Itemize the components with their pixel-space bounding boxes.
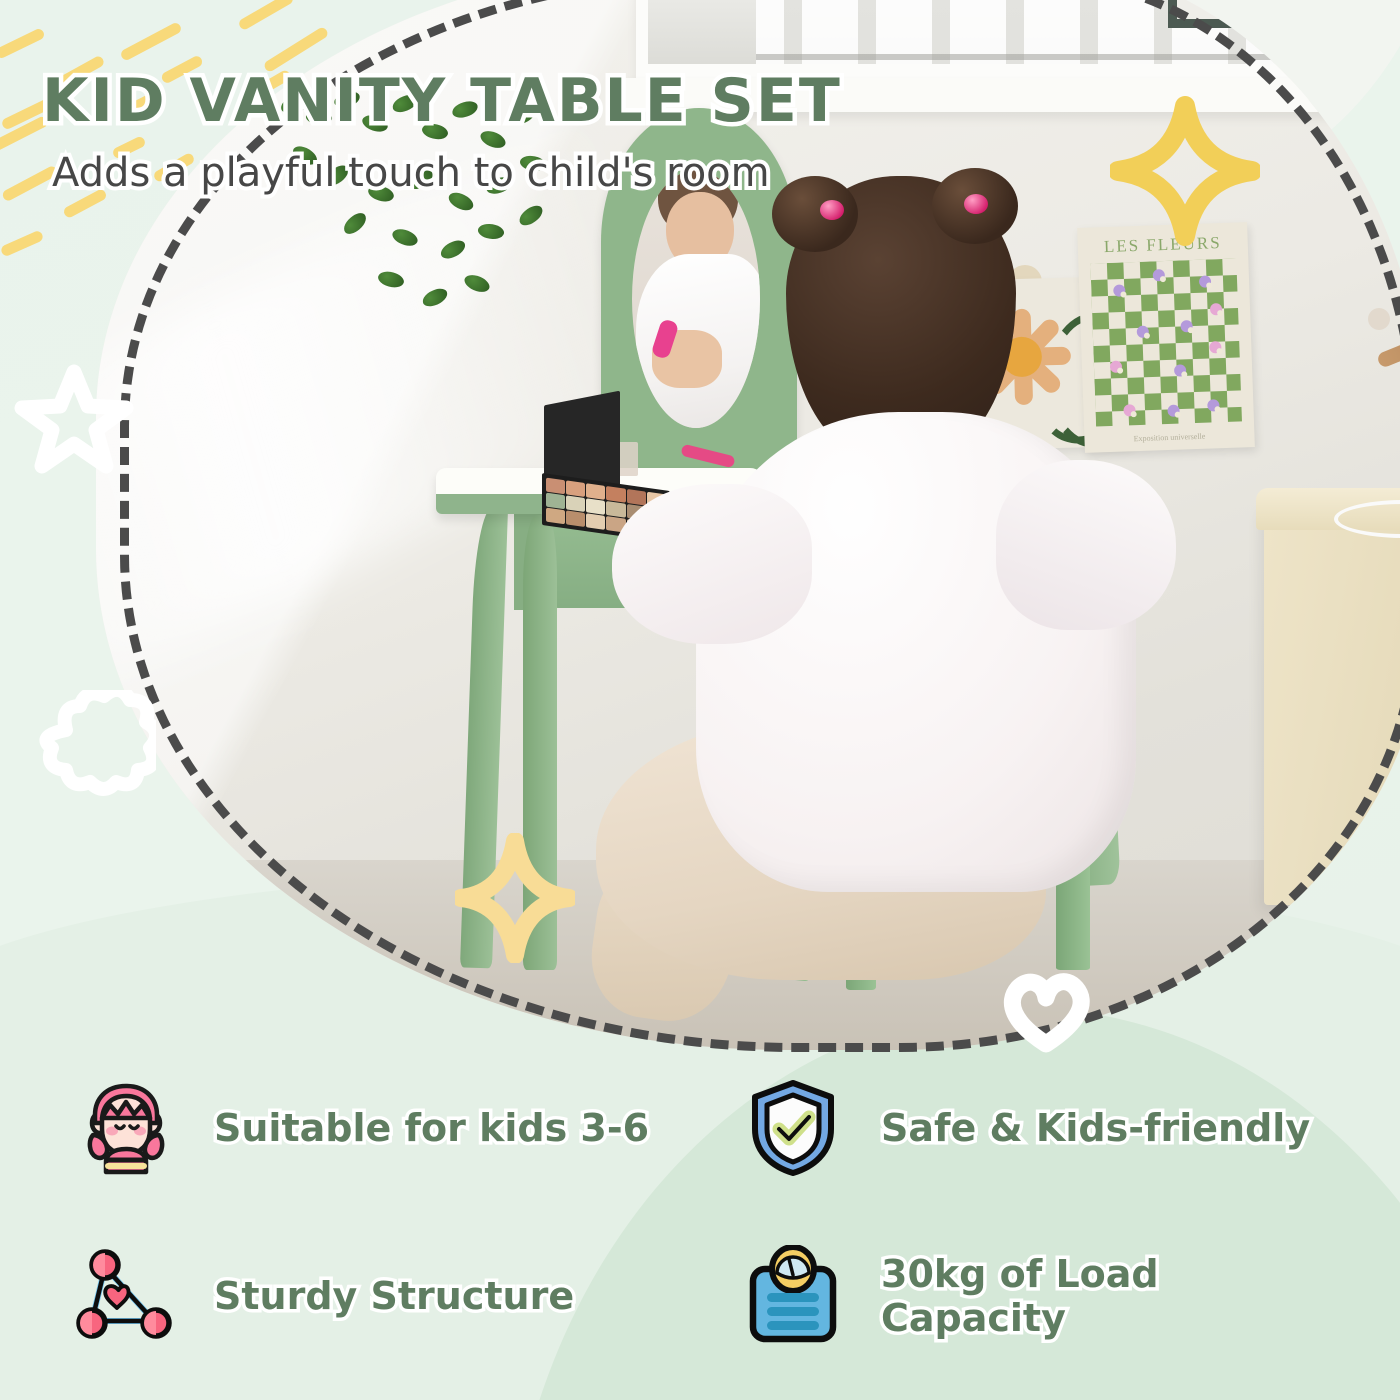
page-subtitle: Adds a playful touch to child's room xyxy=(52,150,842,196)
wall-hook xyxy=(1368,308,1390,330)
makeup-pot xyxy=(618,442,638,476)
feature-label: Suitable for kids 3-6 xyxy=(214,1107,649,1151)
sparkle-icon xyxy=(455,833,575,963)
triangle-heart-icon xyxy=(76,1245,180,1349)
child-sleeve-right xyxy=(996,460,1176,630)
feature-item-suitable-for-kids: Suitable for kids 3-6 xyxy=(76,1045,733,1213)
feature-label: 30kg of Load Capacity xyxy=(881,1253,1159,1340)
les-fleurs-poster: LES FLEURS Exposition universelle xyxy=(1077,222,1255,453)
feature-item-load-capacity: 30kg of Load Capacity xyxy=(743,1213,1400,1381)
feature-label: Sturdy Structure xyxy=(214,1275,574,1319)
hair-scrunchie xyxy=(820,200,844,220)
feature-label: Safe & Kids-friendly xyxy=(881,1107,1310,1151)
page-title: KID VANITY TABLE SET xyxy=(42,66,842,136)
star-outline-icon xyxy=(14,358,134,478)
sparkle-icon xyxy=(1110,96,1260,246)
dresser-leg xyxy=(1304,898,1338,940)
girl-avatar-icon xyxy=(76,1077,180,1181)
child-sleeve-left xyxy=(612,484,812,644)
feature-list: Suitable for kids 3-6 Safe & Kids-friend… xyxy=(0,1045,1400,1381)
wall-picture-frame xyxy=(1168,0,1386,28)
heart-outline-icon xyxy=(996,960,1096,1058)
hair-scrunchie xyxy=(964,194,988,214)
feature-item-sturdy-structure: Sturdy Structure xyxy=(76,1213,733,1381)
cloud-outline-icon xyxy=(26,690,156,810)
vanity-mirror-glass xyxy=(632,170,760,428)
poster-subtitle: Exposition universelle xyxy=(1084,430,1254,445)
shield-check-icon xyxy=(743,1077,847,1181)
dresser xyxy=(1264,505,1400,905)
product-infographic: LES FLEURS Exposition universelle xyxy=(0,0,1400,1400)
feature-item-safe-kids-friendly: Safe & Kids-friendly xyxy=(743,1045,1400,1213)
headline-block: KID VANITY TABLE SET Adds a playful touc… xyxy=(42,66,842,196)
weight-scale-icon xyxy=(743,1245,847,1349)
